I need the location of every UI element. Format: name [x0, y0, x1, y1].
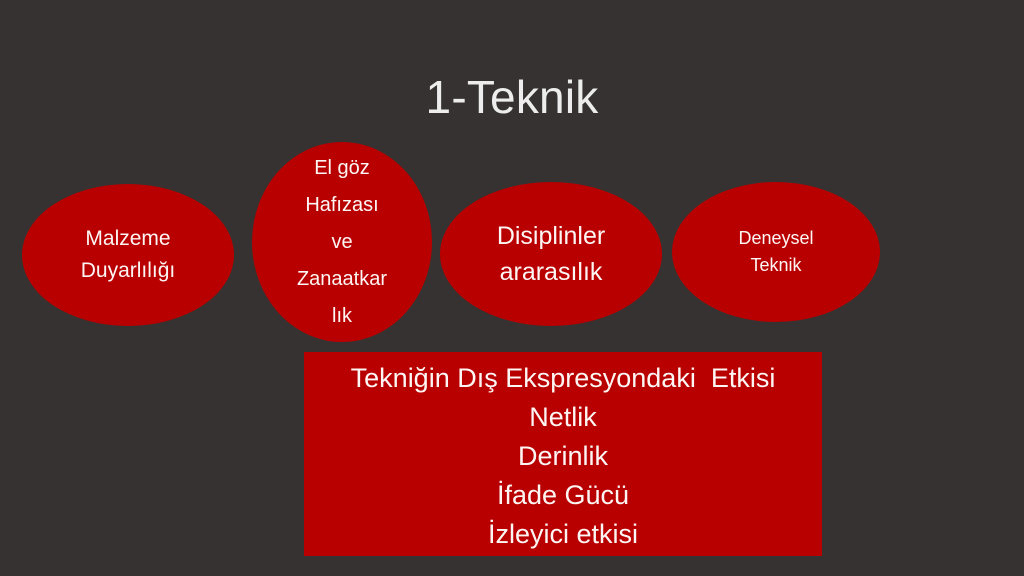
page-title: 1-Teknik — [0, 72, 1024, 123]
ellipse-el-goz-hafizasi-ve-zanaatkarlik[interactable]: El göz Hafızası ve Zanaatkar lık — [252, 142, 432, 342]
effect-box-line: Netlik — [529, 398, 597, 437]
ellipse-label: Deneysel Teknik — [732, 225, 819, 279]
slide-canvas: 1-Teknik Malzeme Duyarlılığı El göz Hafı… — [0, 0, 1024, 576]
effect-box[interactable]: Tekniğin Dış Ekspresyondaki Etkisi Netli… — [304, 352, 822, 556]
ellipse-label: Disiplinler ararasılık — [491, 218, 611, 290]
effect-box-line: İfade Gücü — [497, 476, 629, 515]
ellipse-malzeme-duyarliligi[interactable]: Malzeme Duyarlılığı — [22, 184, 234, 326]
ellipse-label: El göz Hafızası ve Zanaatkar lık — [291, 150, 393, 335]
ellipse-disiplinler-ararasilik[interactable]: Disiplinler ararasılık — [440, 182, 662, 326]
ellipse-deneysel-teknik[interactable]: Deneysel Teknik — [672, 182, 880, 322]
effect-box-line: Tekniğin Dış Ekspresyondaki Etkisi — [351, 359, 776, 398]
effect-box-line: İzleyici etkisi — [488, 515, 638, 554]
effect-box-line: Derinlik — [518, 437, 608, 476]
ellipse-label: Malzeme Duyarlılığı — [75, 223, 182, 287]
